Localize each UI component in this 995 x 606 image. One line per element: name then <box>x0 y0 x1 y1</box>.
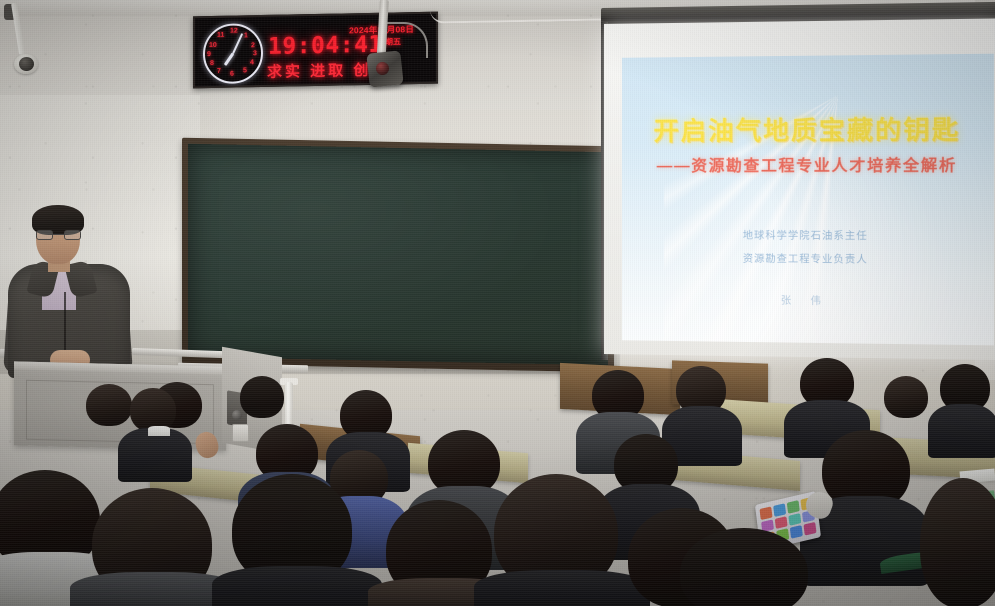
clock-numeral: 4 <box>250 59 254 66</box>
slide-subtitle: ——资源勘查工程专业人才培养全解析 <box>622 153 994 176</box>
student-body <box>928 404 995 458</box>
projection-screen: 开启油气地质宝藏的钥匙 ——资源勘查工程专业人才培养全解析 地球科学学院石油系主… <box>601 2 995 367</box>
clock-numeral: 10 <box>209 42 217 49</box>
clock-minute-hand <box>232 33 243 54</box>
student-body <box>212 566 382 606</box>
slide-credits: 地球科学学院石油系主任 资源勘查工程专业负责人 <box>622 224 994 273</box>
presentation-slide: 开启油气地质宝藏的钥匙 ——资源勘查工程专业人才培养全解析 地球科学学院石油系主… <box>622 54 994 346</box>
student-head <box>86 384 132 426</box>
clock-numeral: 9 <box>207 51 211 58</box>
clock-numeral: 3 <box>253 50 257 57</box>
clock-hour-hand <box>224 53 234 66</box>
slide-title: 开启油气地质宝藏的钥匙 <box>622 110 994 148</box>
blackboard-surface <box>188 144 608 365</box>
slide-credit-line-1: 地球科学学院石油系主任 <box>622 224 994 249</box>
blackboard <box>182 138 614 373</box>
wall-outlet-icon <box>232 424 249 442</box>
lecturer <box>6 208 134 378</box>
projector-lens-icon <box>376 62 389 75</box>
student-collar <box>148 426 170 436</box>
clock-numeral: 2 <box>251 42 255 49</box>
clock-numeral: 6 <box>230 71 234 78</box>
student-head <box>240 376 284 418</box>
student-head <box>920 478 995 606</box>
student-head <box>884 376 928 418</box>
clock-numeral: 5 <box>243 67 247 74</box>
screen-surface: 开启油气地质宝藏的钥匙 ——资源勘查工程专业人才培养全解析 地球科学学院石油系主… <box>604 18 995 360</box>
slide-credit-line-2: 资源勘查工程专业负责人 <box>622 247 994 273</box>
clock-numeral: 7 <box>217 68 221 75</box>
podium-knob-icon <box>232 410 242 420</box>
glasses-icon <box>36 230 81 240</box>
student-body <box>474 570 650 606</box>
clock-numeral: 12 <box>230 27 238 34</box>
clock-numeral: 1 <box>244 32 248 39</box>
student-body <box>118 428 192 482</box>
analog-clock-icon: 12 1 2 3 4 5 6 7 8 9 10 11 <box>203 23 263 84</box>
lecture-hall-photo: 12 1 2 3 4 5 6 7 8 9 10 11 19:04:41 2024… <box>0 0 995 606</box>
clock-numeral: 8 <box>210 60 214 67</box>
clock-numeral: 11 <box>217 32 224 39</box>
camera-lens-icon <box>19 57 34 71</box>
